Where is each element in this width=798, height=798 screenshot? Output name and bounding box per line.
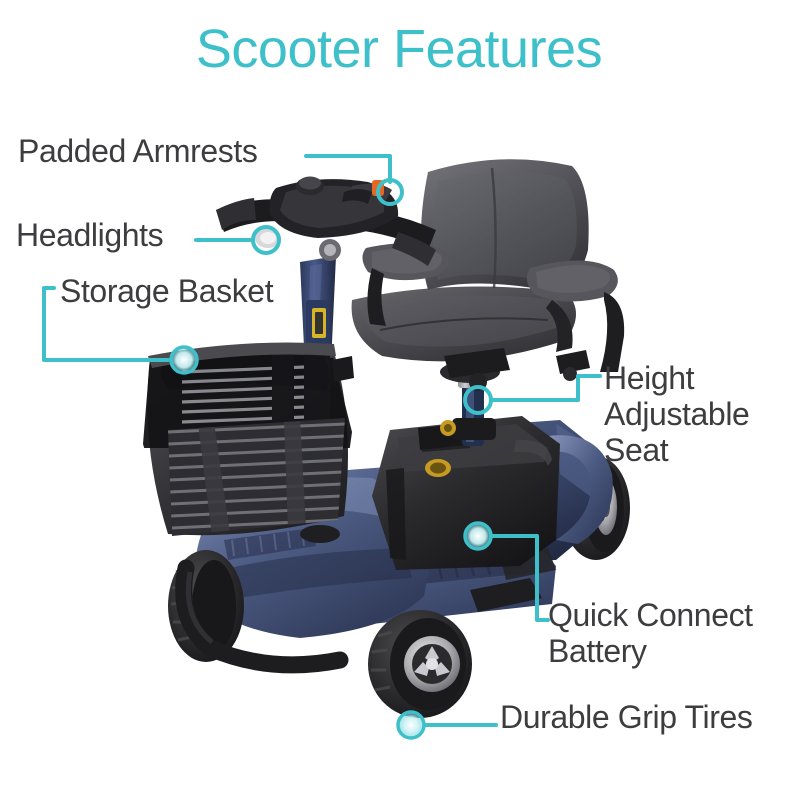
seat-assembly [352, 159, 625, 391]
seat-post-clamp [452, 418, 496, 440]
horn-button [372, 180, 384, 196]
seat-swivel-lever [469, 373, 487, 391]
callout-label-durable-grip-tires: Durable Grip Tires [500, 700, 752, 736]
front-right-wheel [368, 610, 472, 718]
storage-basket [140, 343, 360, 543]
callout-label-headlights: Headlights [16, 218, 163, 254]
callout-label-padded-armrests: Padded Armrests [18, 134, 257, 170]
basket-bracket [332, 356, 354, 382]
infographic-page: Scooter Features [0, 0, 798, 798]
callout-label-quick-connect-battery: Quick Connect Battery [548, 598, 753, 670]
callout-label-storage-basket: Storage Basket [60, 274, 273, 310]
callout-label-height-adjustable-seat: Height Adjustable Seat [604, 361, 749, 468]
